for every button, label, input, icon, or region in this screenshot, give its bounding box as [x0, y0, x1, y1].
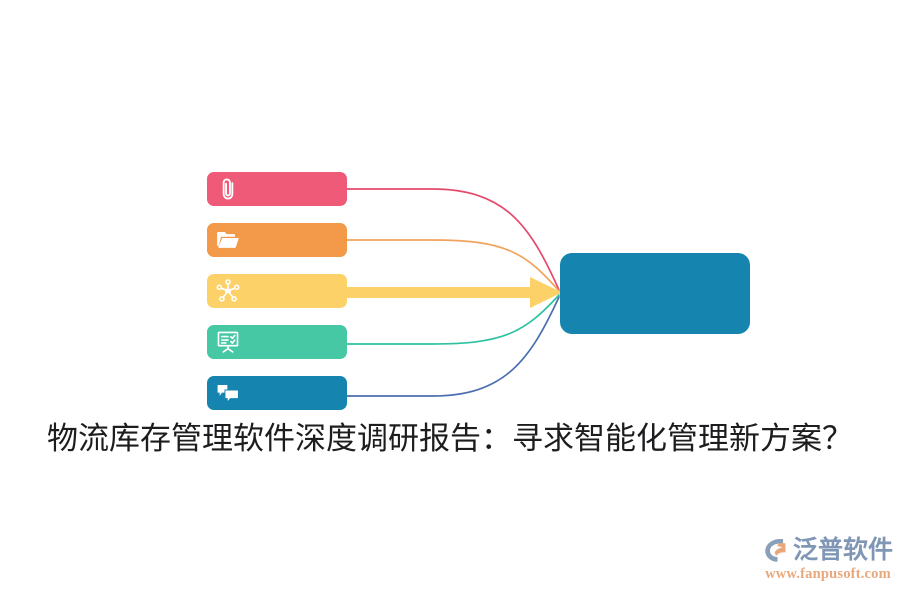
page-title: 物流库存管理软件深度调研报告：寻求智能化管理新方案？	[0, 419, 900, 459]
destination-box[interactable]	[560, 253, 750, 334]
chat-bubbles-icon	[215, 380, 241, 406]
category-box-folder[interactable]	[207, 223, 347, 257]
paperclip-icon	[215, 176, 241, 202]
connector-folder	[346, 240, 559, 291]
category-box-presentation[interactable]	[207, 325, 347, 359]
open-folder-icon	[215, 227, 241, 253]
presentation-board-icon	[215, 329, 241, 355]
category-box-attachment[interactable]	[207, 172, 347, 206]
watermark: 泛普软件 www.fanpusoft.com	[762, 533, 894, 585]
connector-presentation	[346, 295, 559, 344]
screenshot-canvas: 物流库存管理软件深度调研报告：寻求智能化管理新方案？ 泛普软件 www.fanp…	[0, 0, 900, 600]
fanpu-swoosh-logo-icon	[762, 535, 792, 565]
watermark-row: 泛普软件	[762, 533, 894, 567]
watermark-brand-name: 泛普软件	[793, 535, 893, 565]
category-box-network[interactable]	[207, 274, 347, 308]
watermark-url: www.fanpusoft.com	[762, 566, 894, 583]
category-box-chat[interactable]	[207, 376, 347, 410]
connector-diagram	[0, 0, 900, 600]
network-hub-icon	[215, 278, 241, 304]
connector-network-arrow	[340, 277, 562, 308]
connector-chat	[346, 297, 559, 396]
